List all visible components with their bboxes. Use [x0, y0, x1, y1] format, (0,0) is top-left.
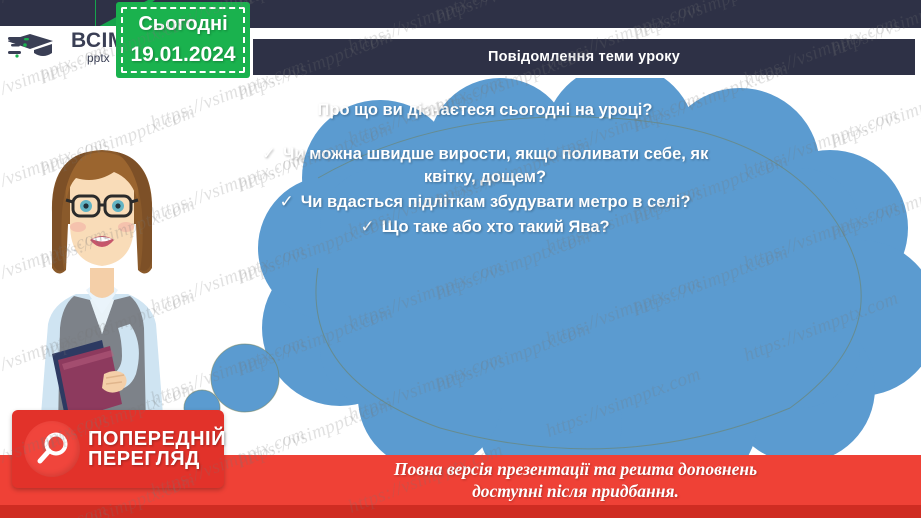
- list-item: ✓Що таке або хто такий Ява?: [250, 216, 720, 239]
- list-item-text: Чи вдасться підліткам збудувати метро в …: [301, 193, 691, 211]
- list-item: ✓Чи можна швидше вирости, якщо поливати …: [250, 143, 720, 188]
- brand-logo[interactable]: ВСІМ pptx: [8, 30, 126, 64]
- date-value: 19.01.2024: [130, 43, 235, 67]
- footer-text: Повна версія презентації та решта доповн…: [230, 455, 921, 507]
- list-item-text: Що таке або хто такий Ява?: [382, 218, 610, 236]
- footer-line-1: Повна версія презентації та решта доповн…: [394, 459, 757, 481]
- footer-line-2: доступні після придбання.: [472, 481, 679, 503]
- page-title: Повідомлення теми уроку: [488, 49, 680, 65]
- cloud-question-list: ✓Чи можна швидше вирости, якщо поливати …: [250, 143, 720, 238]
- graduation-cap-icon: [8, 30, 66, 64]
- magnifier-circle: [24, 421, 80, 477]
- teacher-character: [18, 128, 186, 428]
- presentation-slide: ВСІМ pptx Сьогодні 19.01.2024 Повідомлен…: [0, 0, 921, 518]
- cloud-question: Про що ви дізнаєтеся сьогодні на уроці?: [250, 100, 720, 121]
- list-item: ✓Чи вдасться підліткам збудувати метро в…: [250, 191, 720, 214]
- footer-bottom-strip: [0, 512, 921, 518]
- date-badge: Сьогодні 19.01.2024: [116, 2, 250, 78]
- preview-label-line-1: ПОПЕРЕДНІЙ: [88, 429, 226, 449]
- date-label: Сьогодні: [138, 13, 227, 36]
- slide-title-bar: Повідомлення теми уроку: [253, 39, 915, 75]
- list-item-text: Чи можна швидше вирости, якщо поливати с…: [283, 145, 708, 186]
- magnifier-icon: [37, 432, 69, 466]
- check-icon: ✓: [262, 143, 276, 166]
- preview-badge[interactable]: ПОПЕРЕДНІЙ ПЕРЕГЛЯД: [12, 410, 224, 488]
- check-icon: ✓: [360, 216, 374, 239]
- preview-label-line-2: ПЕРЕГЛЯД: [88, 449, 226, 469]
- check-icon: ✓: [279, 191, 293, 214]
- cloud-content: Про що ви дізнаєтеся сьогодні на уроці? …: [250, 100, 720, 241]
